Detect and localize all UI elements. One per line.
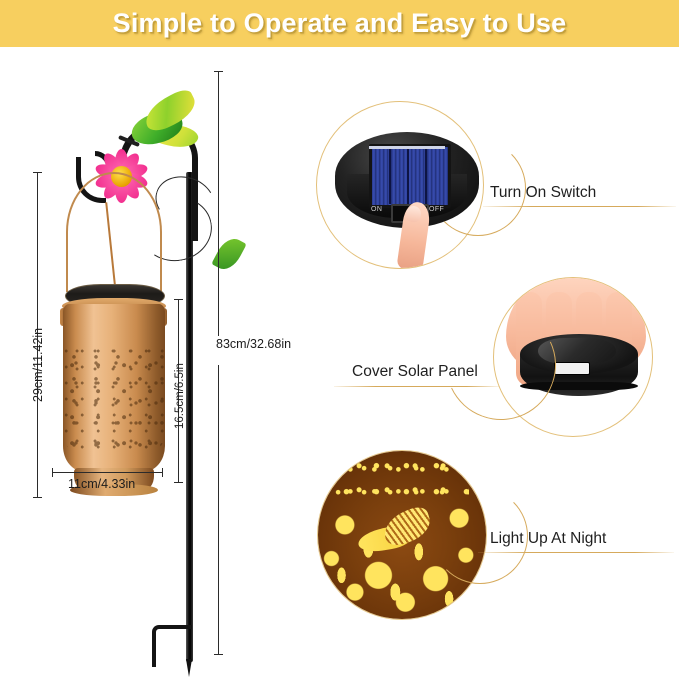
dim-tick (174, 299, 183, 300)
dimension-label-hook-drop: 16.5cm/6.5in (174, 363, 186, 429)
dim-tick (214, 654, 223, 655)
header-banner: Simple to Operate and Easy to Use (0, 0, 679, 47)
dim-tick (33, 172, 42, 173)
hummingbird-projection (358, 511, 435, 561)
lantern-handle (66, 172, 162, 292)
metal-leaf-icon (211, 234, 246, 274)
switch-on-label: ON (371, 206, 382, 213)
callout-connector-line-2 (334, 386, 500, 387)
callout-connector-line-1 (483, 206, 676, 207)
dim-tick (214, 71, 223, 72)
dim-tick (174, 482, 183, 483)
dimension-label-total-height: 83cm/32.68in (216, 337, 291, 351)
dim-tick (33, 497, 42, 498)
dimension-label-lantern-height: 29cm/11.42in (31, 328, 45, 402)
callout-label-cover-solar-panel: Cover Solar Panel (352, 363, 478, 381)
dimension-line-lantern-width (52, 472, 162, 473)
solar-panel-busbar (369, 146, 445, 149)
callout-connector-line-3 (478, 552, 674, 553)
hummingbird-projection-wing (379, 505, 434, 550)
callout-label-light-up-at-night: Light Up At Night (490, 530, 606, 548)
stake-foot-pedal (152, 625, 192, 667)
lantern-cutout-pattern (63, 347, 165, 457)
callout-label-turn-on-switch: Turn On Switch (490, 184, 596, 202)
dim-tick (52, 468, 53, 477)
product-illustration-panel: 29cm/11.42in 16.5cm/6.5in 83cm/32.68in 1… (0, 47, 310, 675)
onoff-switch-housing (554, 362, 590, 375)
page-title: Simple to Operate and Easy to Use (113, 8, 567, 39)
dimension-label-lantern-width: 11cm/4.33in (68, 477, 135, 491)
dim-tick (162, 468, 163, 477)
dimension-line-total-lower (218, 365, 219, 655)
dimension-line-total-upper (218, 71, 219, 336)
